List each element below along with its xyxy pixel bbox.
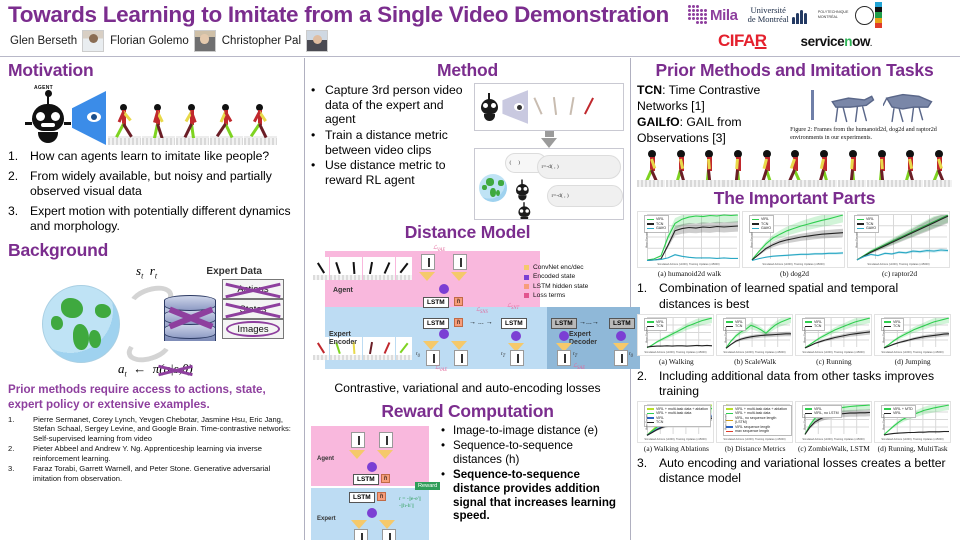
result-1: 1. Combination of learned spatial and te… bbox=[637, 281, 952, 311]
list-item: 3.Faraz Torabi, Garrett Warnell, and Pet… bbox=[8, 464, 296, 483]
legend-entry: TCN bbox=[647, 420, 708, 424]
y-axis-label: Mean Reward bbox=[751, 232, 754, 248]
mila-dots-icon bbox=[688, 5, 708, 25]
walk-frame bbox=[895, 147, 923, 187]
video-frame bbox=[581, 89, 597, 125]
state-reward-symbols: st rt bbox=[136, 263, 157, 281]
y-axis-label: Mean Reward bbox=[856, 232, 859, 248]
section-heading-background: Background bbox=[8, 240, 108, 261]
chart-legend: VIRLTCNGAIfO bbox=[644, 215, 669, 232]
video-frame bbox=[379, 257, 395, 280]
y-axis-label: Mean Reward bbox=[725, 327, 728, 343]
chart-legend: VIRLVIRL, no LSTM bbox=[802, 405, 842, 418]
result-chart: VIRLTCNGAIfOSimulated Actions (x1000), T… bbox=[742, 211, 845, 268]
walk-frame bbox=[752, 147, 780, 187]
thought-cloud: r=-d( , ) bbox=[537, 155, 621, 179]
prior-method-tcn: TCN: Time Contrastive Networks [1] bbox=[637, 83, 786, 115]
chart-caption: (d) Running, MultiTask bbox=[873, 444, 952, 453]
agent-vision-runners-figure: AGENT bbox=[26, 83, 296, 145]
result-chart: VIRLTCNGAIfOSimulated Actions (x1000), T… bbox=[847, 211, 950, 268]
expert-frame-sequence bbox=[313, 337, 412, 360]
legend-entry: GAIfO bbox=[647, 226, 666, 230]
list-item: •Image-to-image distance (e) bbox=[441, 424, 619, 438]
agent-frame-sequence bbox=[313, 257, 412, 280]
author-name: Florian Golemo bbox=[110, 35, 189, 47]
section-heading-prior-methods: Prior Methods and Imitation Tasks bbox=[637, 60, 952, 81]
motivation-points: 1.How can agents learn to imitate like p… bbox=[8, 149, 296, 233]
hidden-state-cell: h bbox=[454, 318, 463, 327]
video-frame bbox=[547, 89, 563, 125]
loss-label: ℒSAE bbox=[573, 363, 585, 371]
expert-encoder-label: ExpertEncoder bbox=[329, 331, 357, 346]
x-axis-label: Simulated Actions (x1000), Training Upda… bbox=[796, 438, 871, 441]
database-icon bbox=[164, 295, 216, 349]
walk-frame bbox=[867, 147, 895, 187]
distance-model-figure: Agent ExpertEncoder ExpertDecoder LSTM h… bbox=[311, 245, 624, 380]
result-chart: VIRL + multi-task data + ablationVIRL + … bbox=[716, 401, 793, 443]
chart-legend: VIRLTCNGAIfO bbox=[749, 215, 774, 232]
loss-label: ℒSNT bbox=[507, 303, 519, 311]
expert-data-rows: Actions States Images bbox=[222, 279, 284, 339]
column-left: Motivation AGENT 1.How can agents learn … bbox=[0, 58, 305, 540]
result-chart: VIRLTCNSimulated Actions (x1000), Traini… bbox=[637, 314, 714, 356]
udem-mark-icon bbox=[792, 7, 808, 24]
result-2: 2. Including additional data from other … bbox=[637, 369, 952, 399]
author-name: Christopher Pal bbox=[222, 35, 301, 47]
legend-entry: Encoded state bbox=[524, 272, 622, 281]
robot-icon: AGENT bbox=[26, 89, 70, 145]
x-axis-label: Simulated Actions (x1000), Training Upda… bbox=[796, 351, 871, 354]
column-right: Prior Methods and Imitation Tasks TCN: T… bbox=[631, 58, 958, 540]
chart-caption: (c) Running bbox=[795, 357, 874, 366]
column-middle: Method •Capture 3rd person video data of… bbox=[305, 58, 631, 540]
chart-caption: (a) Walking Ablations bbox=[637, 444, 716, 453]
walking-frame-strip bbox=[637, 147, 952, 187]
chart-legend: VIRLTCNGAIfO bbox=[854, 215, 879, 232]
legend-entry: TCN bbox=[726, 324, 743, 328]
vision-cone-icon bbox=[72, 91, 106, 145]
y-axis-label: Mean Reward bbox=[804, 414, 807, 430]
figure-caption: Figure 2: Frames from the humanoid2d, do… bbox=[790, 127, 952, 142]
legend-entry: Loss terms bbox=[524, 291, 622, 300]
prior-method-entries: TCN: Time Contrastive Networks [1] GAILf… bbox=[637, 83, 786, 146]
list-item: 1.Pierre Sermanet, Corey Lynch, Yevgen C… bbox=[8, 415, 296, 444]
chart-caption: (b) Distance Metrics bbox=[716, 444, 795, 453]
expert-decoder-label: ExpertDecoder bbox=[569, 331, 597, 346]
list-item: 3.Expert motion with potentially differe… bbox=[8, 204, 296, 234]
polytechnique-montreal-logo: POLYTECHNIQUE MONTRÉAL bbox=[818, 2, 882, 28]
list-item: •Capture 3rd person video data of the ex… bbox=[311, 83, 468, 127]
x-axis-label: Simulated Actions (x1000), Training Upda… bbox=[875, 351, 950, 354]
lstm-node: LSTM bbox=[551, 318, 577, 329]
list-item: •Use distance metric to reward RL agent bbox=[311, 158, 468, 187]
universite-de-montreal-logo: Universitéde Montréal bbox=[748, 6, 808, 24]
chart-legend: VIRL + MTDVIRL bbox=[881, 405, 916, 418]
video-frame bbox=[530, 89, 546, 125]
result-chart: VIRLVIRL, no LSTMSimulated Actions (x100… bbox=[795, 401, 872, 443]
x-axis-label: Simulated Actions (x1000), Training Upda… bbox=[638, 438, 713, 441]
expert-data-label: Expert Data bbox=[206, 266, 262, 277]
video-frame bbox=[363, 337, 379, 360]
legend-entry: max sequence length bbox=[726, 429, 789, 433]
y-axis-label: Mean Reward bbox=[725, 414, 728, 430]
humanoid-dog-raptor-environments: Figure 2: Frames from the humanoid2d, do… bbox=[790, 83, 952, 146]
x-axis-label: Simulated Actions (x1000), Training Upda… bbox=[638, 263, 739, 266]
legend-entry: VIRL, no sequence length (LSTM) bbox=[726, 416, 789, 425]
data-row-actions: Actions bbox=[222, 279, 284, 299]
polytechnique-logo-text: POLYTECHNIQUE MONTRÉAL bbox=[818, 10, 854, 21]
walk-frame bbox=[809, 147, 837, 187]
result-chart: VIRLTCNGAIfOSimulated Actions (x1000), T… bbox=[637, 211, 740, 268]
legend-entry: GAIfO bbox=[752, 226, 771, 230]
udem-logo-text: Universitéde Montréal bbox=[748, 6, 789, 24]
legend-entry: TCN bbox=[805, 324, 822, 328]
hidden-state-cell: h bbox=[381, 474, 390, 483]
section-heading-method: Method bbox=[311, 60, 624, 81]
chart-caption: (c) raptor2d bbox=[847, 269, 952, 278]
loss-label: ℒSNS bbox=[476, 307, 488, 315]
x-axis-label: Simulated Actions (x1000), Training Upda… bbox=[848, 263, 949, 266]
chart-caption: (a) Walking bbox=[637, 357, 716, 366]
background-figure: st rt Expert Data Actions States Images … bbox=[8, 263, 296, 381]
result-chart: VIRLTCNSimulated Actions (x1000), Traini… bbox=[716, 314, 793, 356]
video-frame bbox=[313, 257, 329, 280]
video-frame bbox=[379, 337, 395, 360]
hidden-state-cell: h bbox=[454, 297, 463, 306]
chart-legend: VIRL + multi-task data + ablationVIRL + … bbox=[723, 405, 792, 436]
author-name: Glen Berseth bbox=[10, 35, 77, 47]
color-bars-icon bbox=[875, 2, 882, 28]
hidden-state-cell: h bbox=[377, 492, 386, 501]
list-item: 2.Pieter Abbeel and Andrew Y. Ng. Appren… bbox=[8, 444, 296, 463]
walk-frame bbox=[666, 147, 694, 187]
list-item: •Train a distance metric between video c… bbox=[311, 128, 468, 157]
chart-caption: (c) ZombieWalk, LSTM bbox=[795, 444, 874, 453]
result-chart: VIRLTCNSimulated Actions (x1000), Traini… bbox=[874, 314, 951, 356]
chart-caption: (d) Jumping bbox=[873, 357, 952, 366]
prior-methods-note: Prior methods require access to actions,… bbox=[8, 383, 296, 411]
lstm-node: LSTM bbox=[501, 318, 527, 329]
method-bullets: •Capture 3rd person video data of the ex… bbox=[311, 83, 468, 188]
data-row-images: Images bbox=[222, 319, 284, 339]
avatar bbox=[194, 30, 216, 52]
arrow-down-icon bbox=[541, 138, 557, 148]
mila-logo: Mila bbox=[688, 5, 738, 25]
lstm-node: LSTM bbox=[423, 297, 449, 308]
reference-list: 1.Pierre Sermanet, Corey Lynch, Yevgen C… bbox=[8, 415, 296, 484]
agent-label: Agent bbox=[333, 287, 353, 294]
author-entry: Christopher Pal bbox=[222, 30, 328, 52]
logo-strip: Mila Universitéde Montréal POLYTECHNIQUE… bbox=[688, 1, 956, 56]
loss-label: ℒVAE bbox=[435, 365, 447, 373]
legend-entry: ConvNet enc/dec bbox=[524, 263, 622, 272]
data-row-states: States bbox=[222, 299, 284, 319]
list-item: 1.How can agents learn to imitate like p… bbox=[8, 149, 296, 164]
video-frame bbox=[396, 337, 412, 360]
reward-loop-figure: ( ) r=-d( , ) r=-d( , ) bbox=[474, 148, 624, 220]
y-axis-label: Mean Reward bbox=[883, 414, 886, 430]
humanoid2d-icon bbox=[805, 87, 821, 125]
reward-computation-figure: Agent Expert LSTM h LSTM h Rew bbox=[311, 424, 433, 540]
poster-header: Towards Learning to Imitate from a Singl… bbox=[0, 0, 960, 57]
cifar-logo: CIFAR bbox=[718, 31, 767, 51]
runner-frame-strip bbox=[108, 99, 277, 145]
raptor2d-icon bbox=[883, 91, 937, 125]
video-frame bbox=[330, 257, 346, 280]
walk-frame bbox=[924, 147, 952, 187]
runner-frame bbox=[210, 99, 243, 145]
x-axis-label: Simulated Actions (x1000), Training Upda… bbox=[638, 351, 713, 354]
legend-entry: LSTM hidden state bbox=[524, 282, 622, 291]
result-3: 3. Auto encoding and variational losses … bbox=[637, 456, 952, 486]
method-figure: ( ) r=-d( , ) r=-d( , ) bbox=[474, 83, 624, 220]
legend-entry: TCN bbox=[647, 324, 664, 328]
author-list: Glen Berseth Florian Golemo Christopher … bbox=[10, 30, 328, 52]
legend-entry: GAIfO bbox=[857, 226, 876, 230]
dog2d-icon bbox=[825, 91, 879, 125]
walk-frame bbox=[694, 147, 722, 187]
author-entry: Glen Berseth bbox=[10, 30, 104, 52]
chart-row-3: VIRL + multi-task data + ablationVIRL + … bbox=[637, 401, 952, 453]
agent-camera-figure bbox=[474, 83, 624, 131]
runner-frame bbox=[244, 99, 277, 145]
page-title: Towards Learning to Imitate from a Singl… bbox=[8, 2, 669, 28]
result-chart: VIRL + multi-task data + ablationVIRL + … bbox=[637, 401, 714, 443]
result-chart: VIRLTCNSimulated Actions (x1000), Traini… bbox=[795, 314, 872, 356]
y-axis-label: Mean Reward bbox=[883, 327, 886, 343]
avatar bbox=[82, 30, 104, 52]
video-frame bbox=[396, 257, 412, 280]
chart-caption: (b) ScaleWalk bbox=[716, 357, 795, 366]
globe-icon bbox=[42, 285, 120, 363]
x-axis-label: Simulated Actions (x1000), Training Upda… bbox=[717, 438, 792, 441]
legend-entry: VIRL, no LSTM bbox=[805, 411, 839, 415]
x-axis-label: Simulated Actions (x1000), Training Upda… bbox=[875, 438, 950, 441]
walk-frame bbox=[838, 147, 866, 187]
y-axis-label: Mean Reward bbox=[646, 414, 649, 430]
policy-equation: at ← π(a|s,θ) bbox=[118, 361, 193, 379]
list-item: •Sequence-to-sequence distance provides … bbox=[441, 468, 619, 524]
section-heading-motivation: Motivation bbox=[8, 60, 296, 81]
runner-frame bbox=[108, 99, 141, 145]
reward-equation: r = -||e-e'||-||h-h'|| bbox=[399, 496, 421, 511]
loss-label: ℒVAE bbox=[433, 245, 445, 253]
walk-frame bbox=[637, 147, 665, 187]
video-frame bbox=[313, 337, 329, 360]
video-frame bbox=[564, 89, 580, 125]
section-heading-distance-model: Distance Model bbox=[311, 222, 624, 243]
mila-logo-text: Mila bbox=[710, 7, 738, 24]
author-entry: Florian Golemo bbox=[110, 30, 216, 52]
list-item: •Sequence-to-sequence distances (h) bbox=[441, 439, 619, 467]
runner-frame bbox=[142, 99, 175, 145]
section-heading-reward-computation: Reward Computation bbox=[311, 401, 624, 422]
y-axis-label: Mean Reward bbox=[646, 232, 649, 248]
lstm-node: LSTM bbox=[423, 318, 449, 329]
chart-caption: (b) dog2d bbox=[742, 269, 847, 278]
x-axis-label: Simulated Actions (x1000), Training Upda… bbox=[717, 351, 792, 354]
chart-legend: VIRL + multi-task data + ablationVIRL + … bbox=[644, 405, 711, 427]
seal-icon bbox=[855, 6, 874, 25]
section-heading-important-parts: The Important Parts bbox=[637, 188, 952, 209]
chart-row-1: VIRLTCNGAIfOSimulated Actions (x1000), T… bbox=[637, 211, 952, 278]
runner-frame bbox=[176, 99, 209, 145]
walk-frame bbox=[723, 147, 751, 187]
lstm-node: LSTM bbox=[349, 492, 375, 503]
expert-label: Expert bbox=[317, 516, 336, 522]
y-axis-label: Mean Reward bbox=[804, 327, 807, 343]
y-axis-label: Mean Reward bbox=[646, 327, 649, 343]
list-item: 2.From widely available, but noisy and p… bbox=[8, 169, 296, 199]
x-axis-label: Simulated Actions (x1000), Training Upda… bbox=[743, 263, 844, 266]
prior-method-gailfo: GAILfO: GAIL from Observations [3] bbox=[637, 115, 786, 147]
thought-cloud: r=-d( , ) bbox=[547, 185, 623, 207]
video-frame bbox=[363, 257, 379, 280]
servicenow-logo: servicenow. bbox=[801, 34, 872, 49]
distance-model-caption: Contrastive, variational and auto-encodi… bbox=[311, 381, 624, 395]
avatar bbox=[306, 30, 328, 52]
distance-model-legend: ConvNet enc/dec Encoded state LSTM hidde… bbox=[524, 263, 622, 300]
legend-entry: VIRL bbox=[884, 411, 913, 415]
chart-row-2: VIRLTCNSimulated Actions (x1000), Traini… bbox=[637, 314, 952, 366]
chart-caption: (a) humanoid2d walk bbox=[637, 269, 742, 278]
legend-entry: TCN bbox=[884, 324, 901, 328]
agent-label: Agent bbox=[317, 456, 334, 462]
reward-computation-bullets: •Image-to-image distance (e) •Sequence-t… bbox=[441, 424, 619, 540]
video-frame bbox=[346, 257, 362, 280]
result-chart: VIRL + MTDVIRLSimulated Actions (x1000),… bbox=[874, 401, 951, 443]
reward-badge: Reward bbox=[415, 482, 440, 490]
walk-frame bbox=[780, 147, 808, 187]
lstm-node: LSTM bbox=[353, 474, 379, 485]
poster-root: Towards Learning to Imitate from a Singl… bbox=[0, 0, 960, 540]
